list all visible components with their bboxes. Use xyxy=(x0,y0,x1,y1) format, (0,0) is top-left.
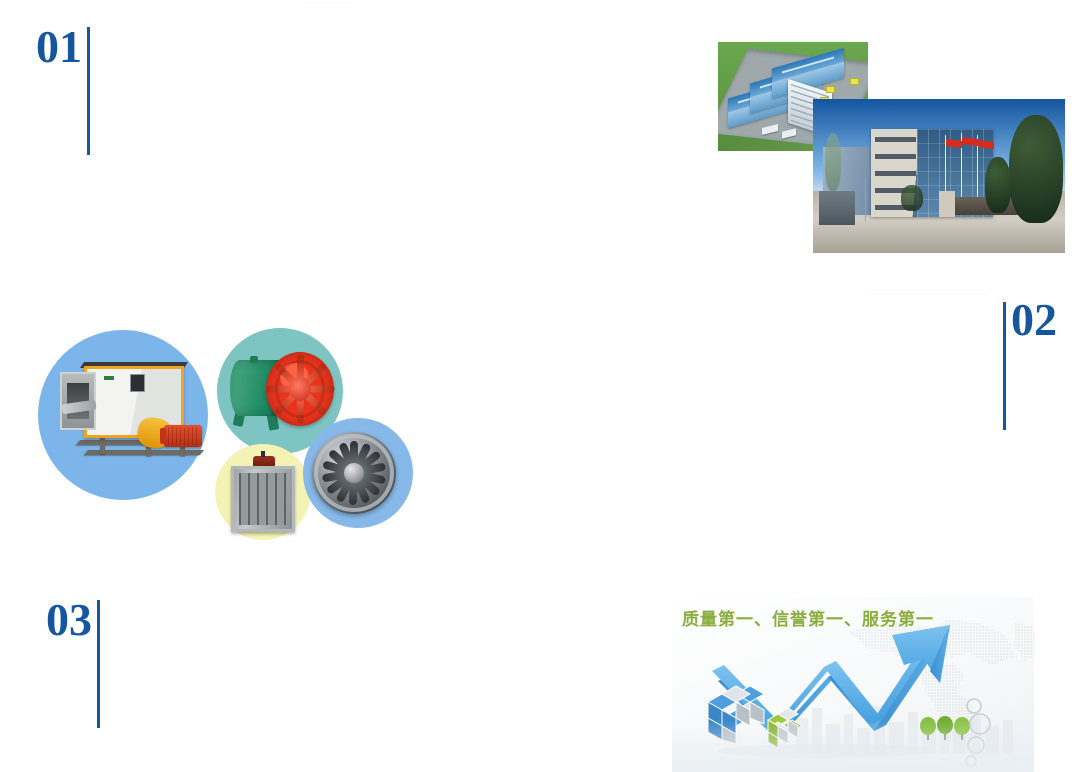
gatehouse xyxy=(819,191,855,225)
hairline-middle xyxy=(869,293,989,294)
section-number-02: 02 xyxy=(1011,297,1057,343)
product-image-cluster: Cabinet type centrifugal fan unit with o… xyxy=(0,300,440,570)
red-impeller-ring xyxy=(266,352,334,426)
tree-right-small xyxy=(985,157,1011,213)
loading-dock-4 xyxy=(850,78,859,85)
loading-dock-1 xyxy=(826,86,835,93)
entry-pillar xyxy=(939,191,955,217)
floor-reflection xyxy=(672,720,1034,772)
junction-box xyxy=(250,356,258,363)
section-marker-03[interactable]: 03 xyxy=(46,597,100,728)
section-marker-01[interactable]: 01 xyxy=(36,24,90,155)
section-rule-03 xyxy=(97,600,100,728)
blower-outer-lip xyxy=(314,434,394,512)
section-number-01: 01 xyxy=(36,24,82,70)
air-damper-image: Air volume damper louver box with actuat… xyxy=(231,456,295,532)
control-panel xyxy=(130,374,145,392)
tree-far-left xyxy=(825,133,841,191)
damper-frame xyxy=(231,466,295,532)
electric-motor xyxy=(164,425,202,447)
company-building-photo: Photo of company headquarters building w… xyxy=(813,99,1065,253)
section-rule-01 xyxy=(87,27,90,155)
slide-canvas: 01 02 03 3D rendering of factory complex… xyxy=(0,0,1074,772)
flagpole-1 xyxy=(945,135,946,197)
section-number-03: 03 xyxy=(46,597,92,643)
name-plate xyxy=(104,376,114,380)
growth-banner-image: 质量第一、信誉第一、服务第一 Blue upward arrow over do… xyxy=(672,597,1034,772)
centrifugal-fan-unit-image: Cabinet type centrifugal fan unit with o… xyxy=(60,362,210,482)
gate-post xyxy=(865,179,866,221)
section-rule-02 xyxy=(1003,302,1006,430)
shrub-left xyxy=(901,185,923,211)
axial-fan-image: Green casing axial flow fan with red imp… xyxy=(228,344,338,440)
hairline-top xyxy=(302,2,354,3)
mixed-flow-blower-image: Mixed flow blower with multi blade steel… xyxy=(312,428,406,518)
banner-headline: 质量第一、信誉第一、服务第一 xyxy=(682,605,934,630)
section-marker-02[interactable]: 02 xyxy=(1003,299,1057,430)
tree-right-large xyxy=(1009,115,1063,223)
